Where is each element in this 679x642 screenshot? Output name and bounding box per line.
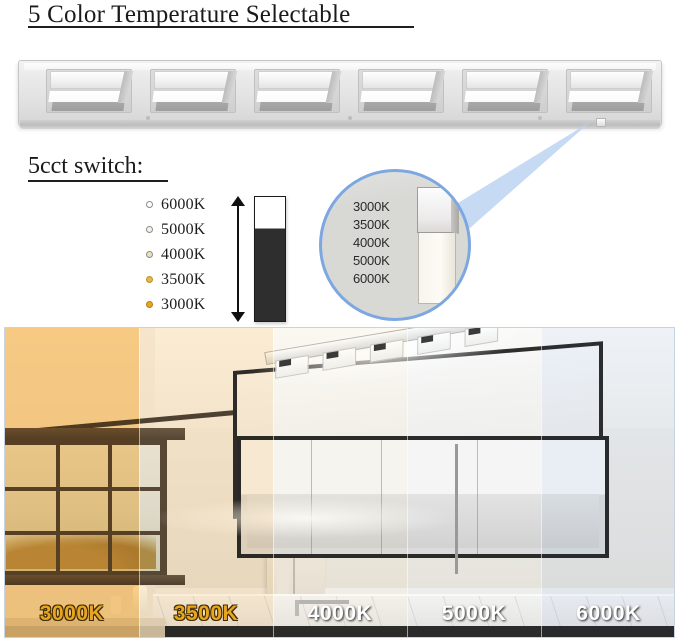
cct-dot-icon (146, 301, 153, 308)
cct-photo-label-3500k: 3500K (139, 591, 273, 637)
cct-option-3000k[interactable]: 3000K (146, 292, 238, 317)
led-module (358, 69, 444, 113)
cct-dot-icon (146, 251, 153, 258)
magnified-slide-switch[interactable] (418, 188, 458, 304)
cct-label-strip: 3000K 3500K 4000K 5000K 6000K (5, 591, 674, 637)
cct-dot-icon (146, 276, 153, 283)
cct-photo-label-3000k: 3000K (5, 591, 139, 637)
cct-photo-label-text: 6000K (576, 602, 640, 626)
led-shadow (155, 102, 228, 111)
cct-option-list: 6000K 5000K 4000K 3500K 3000K (146, 192, 238, 317)
led-module (462, 69, 548, 113)
cct-option-label: 6000K (161, 196, 206, 214)
magnifier-label-list: 3000K 3500K 4000K 5000K 6000K (353, 198, 411, 288)
led-module (150, 69, 236, 113)
magnifier-label: 4000K (353, 234, 411, 252)
cct-photo-label-6000k: 6000K (541, 591, 675, 637)
switch-detail-magnifier: 3000K 3500K 4000K 5000K 6000K (319, 169, 471, 321)
mounting-screw (538, 116, 542, 120)
cct-photo-label-5000k: 5000K (407, 591, 541, 637)
cct-switch-heading-block: 5cct switch: (28, 152, 228, 186)
cct-option-label: 3000K (161, 296, 206, 314)
double-arrow-icon (230, 196, 246, 322)
magnifier-label: 5000K (353, 252, 411, 270)
cct-photo-label-text: 3000K (40, 602, 104, 626)
led-shade (154, 71, 230, 89)
magnifier-label: 6000K (353, 270, 411, 288)
fixture-base-rail (20, 120, 660, 129)
cct-option-3500k[interactable]: 3500K (146, 267, 238, 292)
cct-option-5000k[interactable]: 5000K (146, 217, 238, 242)
led-module (566, 69, 652, 113)
led-shadow (363, 102, 436, 111)
magnifier-label: 3500K (353, 216, 411, 234)
arrow-down-head (231, 312, 245, 322)
cct-photo-label-text: 3500K (174, 602, 238, 626)
mounting-screw (146, 116, 150, 120)
title-underline (28, 26, 414, 28)
arrow-shaft (237, 203, 239, 315)
cct-heading-underline (28, 180, 168, 182)
led-vanity-light-fixture (18, 60, 662, 138)
led-shade (466, 71, 542, 89)
page-title-block: 5 Color Temperature Selectable (28, 0, 428, 34)
cct-option-6000k[interactable]: 6000K (146, 192, 238, 217)
cct-photo-label-4000k: 4000K (273, 591, 407, 637)
led-module (254, 69, 340, 113)
led-shadow (467, 102, 540, 111)
cct-photo-label-text: 5000K (442, 602, 506, 626)
led-shade (50, 71, 126, 89)
cct-option-label: 4000K (161, 246, 206, 264)
cct-switch-heading: 5cct switch: (28, 152, 228, 180)
cct-photo-label-text: 4000K (308, 602, 372, 626)
led-shadow (571, 102, 644, 111)
cct-option-4000k[interactable]: 4000K (146, 242, 238, 267)
switch-knob-side (451, 188, 459, 234)
mounting-screw (348, 116, 352, 120)
cct-dot-icon (146, 201, 153, 208)
led-shade (362, 71, 438, 89)
cct-option-label: 3500K (161, 271, 206, 289)
led-module (46, 69, 132, 113)
cct-dot-icon (146, 226, 153, 233)
cct-slide-switch-diagram[interactable] (254, 196, 286, 322)
cct-option-label: 5000K (161, 221, 206, 239)
cct-selector-switch-on-fixture[interactable] (596, 118, 606, 127)
led-shadow (259, 102, 332, 111)
led-shade (258, 71, 334, 89)
switch-knob[interactable] (255, 197, 285, 229)
led-shade (570, 71, 646, 89)
led-shadow (51, 102, 124, 111)
cct-comparison-photo: 3000K 3500K 4000K 5000K 6000K (4, 327, 675, 638)
